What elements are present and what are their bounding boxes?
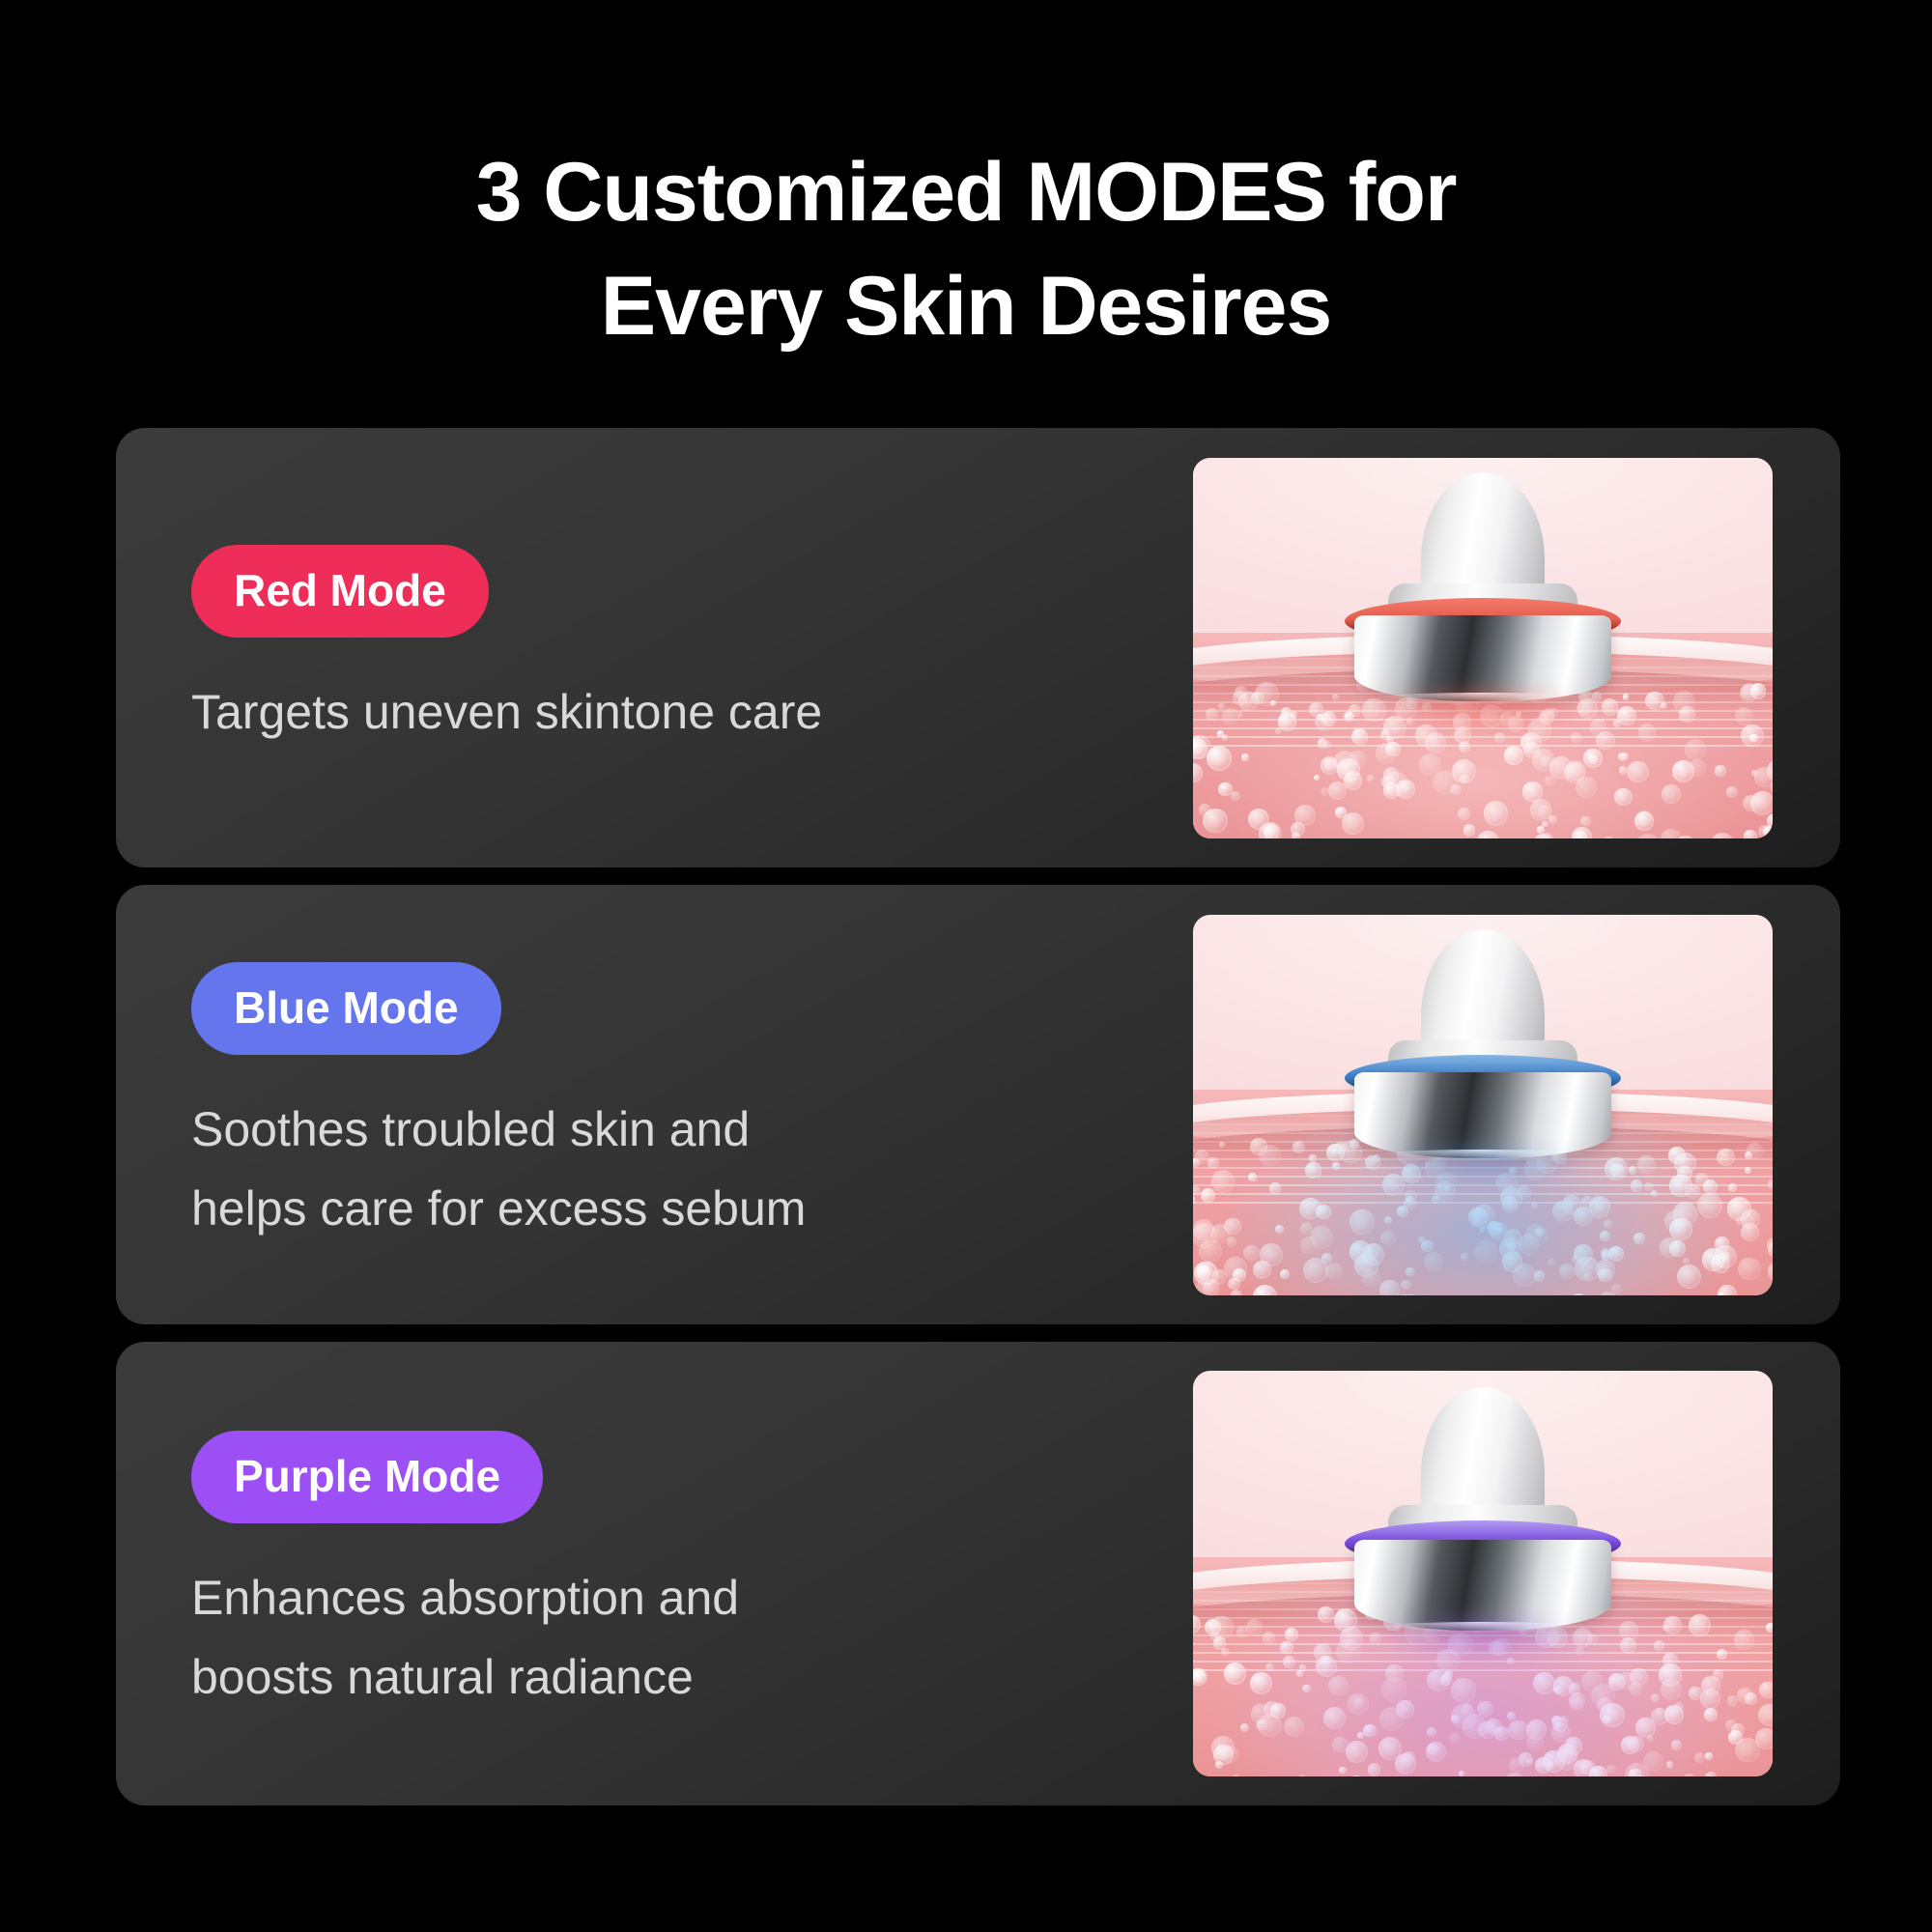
bubble [1449, 1732, 1461, 1744]
bubble [1193, 1158, 1200, 1167]
bubble [1433, 771, 1457, 795]
bubble [1368, 1763, 1381, 1776]
bubble [1460, 775, 1469, 784]
bubble [1559, 1264, 1575, 1279]
bubble [1241, 753, 1249, 761]
bubble [1380, 1231, 1395, 1245]
bubble [1207, 1157, 1219, 1169]
bubble [1768, 1179, 1773, 1189]
bubble [1337, 758, 1360, 781]
bubble [1499, 1237, 1521, 1260]
bubble [1421, 1240, 1433, 1252]
bubble [1705, 1772, 1718, 1776]
bubble [1600, 1703, 1624, 1727]
bubble [1677, 1166, 1692, 1181]
bubble [1350, 1209, 1375, 1235]
mode-card-red-description: Targets uneven skintone care [191, 672, 1041, 752]
bubble [1323, 1707, 1346, 1729]
bubble [1299, 1664, 1307, 1672]
bubble [1275, 728, 1281, 734]
mode-card-blue[interactable]: Blue Mode Soothes troubled skin and help… [116, 885, 1840, 1324]
bubble [1738, 1258, 1761, 1281]
bubble [1677, 1264, 1701, 1289]
bubble [1211, 1269, 1227, 1285]
bubble [1548, 815, 1557, 824]
bubble [1713, 1669, 1723, 1680]
bubble [1508, 1720, 1528, 1741]
badge-purple-mode[interactable]: Purple Mode [191, 1431, 543, 1523]
bubble [1744, 830, 1756, 838]
bubble [1299, 1775, 1305, 1776]
mode-card-red-text: Red Mode Targets uneven skintone care [191, 545, 1041, 752]
bubble [1250, 1672, 1272, 1694]
bubble [1381, 776, 1395, 789]
bubble [1201, 1188, 1215, 1203]
page-title-line-1: 3 Customized MODES for [0, 135, 1932, 249]
bubble [1580, 816, 1591, 827]
bubble [1281, 707, 1292, 718]
bubble [1269, 1182, 1281, 1194]
bubble [1379, 1707, 1404, 1731]
bubble [1405, 1294, 1417, 1295]
bubble [1362, 1269, 1379, 1287]
bubble [1672, 760, 1694, 782]
bubble [1755, 1728, 1773, 1749]
bubble [1768, 1262, 1773, 1282]
bubble [1314, 775, 1321, 781]
bubble [1217, 730, 1224, 737]
bubble [1719, 1292, 1724, 1294]
bubble [1691, 1185, 1700, 1194]
bubble [1224, 1662, 1246, 1685]
bubble [1684, 1774, 1694, 1776]
bubble [1600, 1231, 1610, 1241]
bubble [1575, 1257, 1599, 1281]
bubble [1714, 1245, 1737, 1268]
bubble [1630, 1668, 1647, 1686]
bubble [1251, 1704, 1270, 1723]
bubble [1673, 691, 1696, 714]
bubble [1643, 1751, 1663, 1772]
bubble [1745, 1692, 1757, 1705]
bubble [1745, 1167, 1752, 1175]
bubble [1339, 1767, 1347, 1775]
bubble [1283, 1656, 1295, 1668]
bubble [1253, 1285, 1277, 1294]
bubble [1750, 683, 1766, 698]
bubble [1768, 1241, 1773, 1258]
bubble [1662, 784, 1681, 804]
bubble [1328, 1676, 1349, 1696]
bubble [1305, 1162, 1321, 1178]
bubble [1367, 775, 1374, 781]
bubble [1302, 1685, 1310, 1692]
description-line-2: helps care for excess sebum [191, 1169, 1041, 1248]
bubble [1519, 1234, 1540, 1255]
bubble [1222, 1746, 1239, 1763]
bubble [1475, 1240, 1497, 1263]
bubble [1426, 1742, 1446, 1762]
bubble [1651, 1190, 1658, 1197]
bubble [1207, 746, 1232, 771]
bubble [1463, 824, 1475, 836]
bubble [1705, 1752, 1712, 1759]
bubble [1246, 1619, 1263, 1635]
badge-red-mode[interactable]: Red Mode [191, 545, 489, 638]
bubble [1459, 1771, 1464, 1776]
bubble [1248, 1173, 1257, 1181]
page-title: 3 Customized MODES for Every Skin Desire… [0, 135, 1932, 363]
bubble [1243, 1245, 1260, 1262]
bubble [1222, 708, 1239, 725]
device-illustration-red [1338, 472, 1628, 724]
mode-card-purple-text: Purple Mode Enhances absorption and boos… [191, 1431, 1041, 1717]
mode-card-blue-text: Blue Mode Soothes troubled skin and help… [191, 962, 1041, 1248]
bubble [1300, 1236, 1318, 1254]
bubble [1694, 1752, 1705, 1763]
bubble [1689, 1687, 1703, 1701]
bubble [1494, 1726, 1509, 1741]
bubble [1193, 1195, 1195, 1205]
bubble [1193, 763, 1203, 782]
bubble [1645, 692, 1664, 711]
bubble [1611, 1284, 1623, 1295]
bubble [1766, 1623, 1773, 1633]
description-line-1: Enhances absorption and [191, 1558, 1041, 1637]
bubble [1294, 805, 1316, 826]
bubble [1285, 1628, 1298, 1641]
bubble [1654, 1640, 1664, 1651]
bubble [1315, 713, 1333, 731]
bubble [1637, 1155, 1657, 1175]
mode-card-purple-description: Enhances absorption and boosts natural r… [191, 1558, 1041, 1717]
bubble [1535, 1757, 1551, 1774]
bubble [1218, 703, 1225, 710]
bubble [1240, 1723, 1249, 1732]
bubble [1634, 1233, 1645, 1244]
bubble [1715, 765, 1726, 777]
led-glow-red [1338, 689, 1628, 751]
bubble [1350, 1244, 1365, 1260]
bubble [1211, 1170, 1235, 1193]
bubble [1574, 1759, 1593, 1776]
mode-card-list: Red Mode Targets uneven skintone care [116, 428, 1840, 1823]
bubble [1221, 1648, 1229, 1656]
bubble [1656, 1708, 1662, 1715]
bubble [1265, 1663, 1273, 1671]
bubble [1219, 1142, 1226, 1149]
bubble [1572, 1293, 1586, 1294]
bubble [1193, 1615, 1201, 1634]
bubble [1631, 1179, 1643, 1192]
bubble [1348, 1693, 1368, 1714]
mode-image-red [1193, 458, 1773, 838]
description-line-2: boosts natural radiance [191, 1637, 1041, 1717]
bubble [1728, 1183, 1737, 1192]
mode-card-blue-description: Soothes troubled skin and helps care for… [191, 1090, 1041, 1248]
bubble [1747, 1143, 1763, 1159]
bubble [1697, 1193, 1722, 1218]
description-line-1: Targets uneven skintone care [191, 672, 1041, 752]
bubble [1231, 1290, 1242, 1294]
bubble [1275, 1225, 1284, 1234]
bubble [1661, 829, 1682, 838]
bubble [1323, 741, 1331, 749]
device-illustration-blue [1338, 929, 1628, 1180]
bubble [1379, 1280, 1400, 1295]
bubble [1451, 1678, 1476, 1703]
bubble [1614, 788, 1632, 806]
bubble [1545, 776, 1554, 785]
badge-blue-mode[interactable]: Blue Mode [191, 962, 501, 1055]
bubble [1574, 1207, 1593, 1226]
page-title-line-2: Every Skin Desires [0, 249, 1932, 363]
bubble [1280, 1269, 1290, 1279]
bubble [1363, 1724, 1377, 1738]
bubble [1522, 781, 1543, 802]
bubble [1685, 739, 1706, 760]
bubble [1717, 1649, 1727, 1660]
bubble [1726, 786, 1738, 798]
bubble [1427, 1727, 1436, 1737]
bubble [1424, 1252, 1443, 1271]
bubble [1734, 1630, 1754, 1650]
bubble [1381, 1677, 1406, 1702]
bubble [1328, 781, 1347, 800]
bubble [1248, 809, 1270, 831]
bubble [1401, 1280, 1411, 1291]
mode-card-red[interactable]: Red Mode Targets uneven skintone care [116, 428, 1840, 867]
bubble [1284, 1717, 1304, 1737]
bubble [1689, 1614, 1711, 1636]
bubble [1735, 707, 1753, 725]
bubble [1542, 821, 1548, 828]
bubble [1293, 1141, 1305, 1153]
bubble [1233, 1775, 1239, 1776]
bubble [1218, 782, 1232, 796]
bubble [1228, 1278, 1239, 1290]
bubble [1647, 1735, 1655, 1743]
bubble [1644, 1182, 1654, 1192]
bubble [1477, 831, 1500, 838]
bubble [1583, 749, 1603, 768]
bubble [1321, 1253, 1332, 1264]
bubble [1604, 1220, 1612, 1229]
bubble [1569, 1692, 1585, 1709]
bubble [1461, 1253, 1468, 1261]
bubble [1636, 834, 1660, 838]
bubble [1396, 780, 1415, 799]
bubble [1572, 827, 1592, 838]
bubble [1629, 1166, 1636, 1174]
bubble [1534, 1270, 1546, 1282]
device-illustration-purple [1338, 1387, 1628, 1655]
bubble [1751, 770, 1758, 777]
bubble [1551, 1723, 1571, 1743]
bubble [1606, 1765, 1615, 1774]
bubble [1664, 1705, 1684, 1724]
bubble [1342, 812, 1364, 835]
bubble [1553, 1676, 1574, 1696]
bubble [1507, 1712, 1516, 1720]
bubble [1700, 1689, 1720, 1709]
bubble [1318, 1606, 1334, 1623]
bubble [1741, 724, 1764, 748]
bubble [1203, 809, 1228, 834]
bubble [1627, 761, 1648, 782]
bubble [1727, 1695, 1738, 1706]
bubble [1664, 1210, 1686, 1232]
bubble [1280, 1641, 1293, 1655]
led-glow-purple [1338, 1617, 1628, 1679]
bubble [1618, 753, 1627, 761]
bubble [1458, 808, 1470, 820]
bubble [1504, 1773, 1525, 1776]
bubble [1530, 799, 1551, 820]
bubble [1384, 1216, 1392, 1224]
bubble [1651, 1693, 1660, 1702]
bubble [1253, 1261, 1271, 1279]
bubble [1703, 1179, 1719, 1195]
bubble [1526, 1733, 1543, 1749]
bubble [1206, 708, 1218, 721]
bubble [1210, 1224, 1230, 1243]
bubble [1759, 1682, 1773, 1699]
bubble [1758, 1704, 1773, 1726]
bubble [1634, 811, 1654, 831]
bubble [1300, 1222, 1313, 1235]
bubble [1727, 1197, 1752, 1222]
bubble [1660, 1237, 1681, 1259]
bubble [1526, 1758, 1533, 1765]
bubble [1263, 1632, 1275, 1644]
bubble [1237, 712, 1243, 718]
bubble [1406, 1267, 1414, 1276]
mode-image-purple [1193, 1371, 1773, 1776]
bubble [1741, 1223, 1760, 1242]
bubble [1638, 724, 1656, 741]
bubble [1316, 1205, 1331, 1220]
bubble [1717, 1149, 1735, 1167]
bubble [1602, 837, 1616, 838]
bubble [1711, 833, 1734, 838]
bubble [1484, 801, 1508, 825]
bubble [1346, 1741, 1369, 1764]
promo-page: 3 Customized MODES for Every Skin Desire… [0, 0, 1932, 1932]
bubble [1704, 1708, 1718, 1721]
bubble [1548, 1259, 1555, 1266]
description-line-1: Soothes troubled skin and [191, 1090, 1041, 1169]
bubble [1309, 1154, 1317, 1162]
mode-card-purple[interactable]: Purple Mode Enhances absorption and boos… [116, 1342, 1840, 1805]
mode-image-blue [1193, 915, 1773, 1295]
bubble [1671, 1740, 1682, 1750]
bubble [1666, 1761, 1674, 1769]
led-glow-blue [1338, 1146, 1628, 1207]
